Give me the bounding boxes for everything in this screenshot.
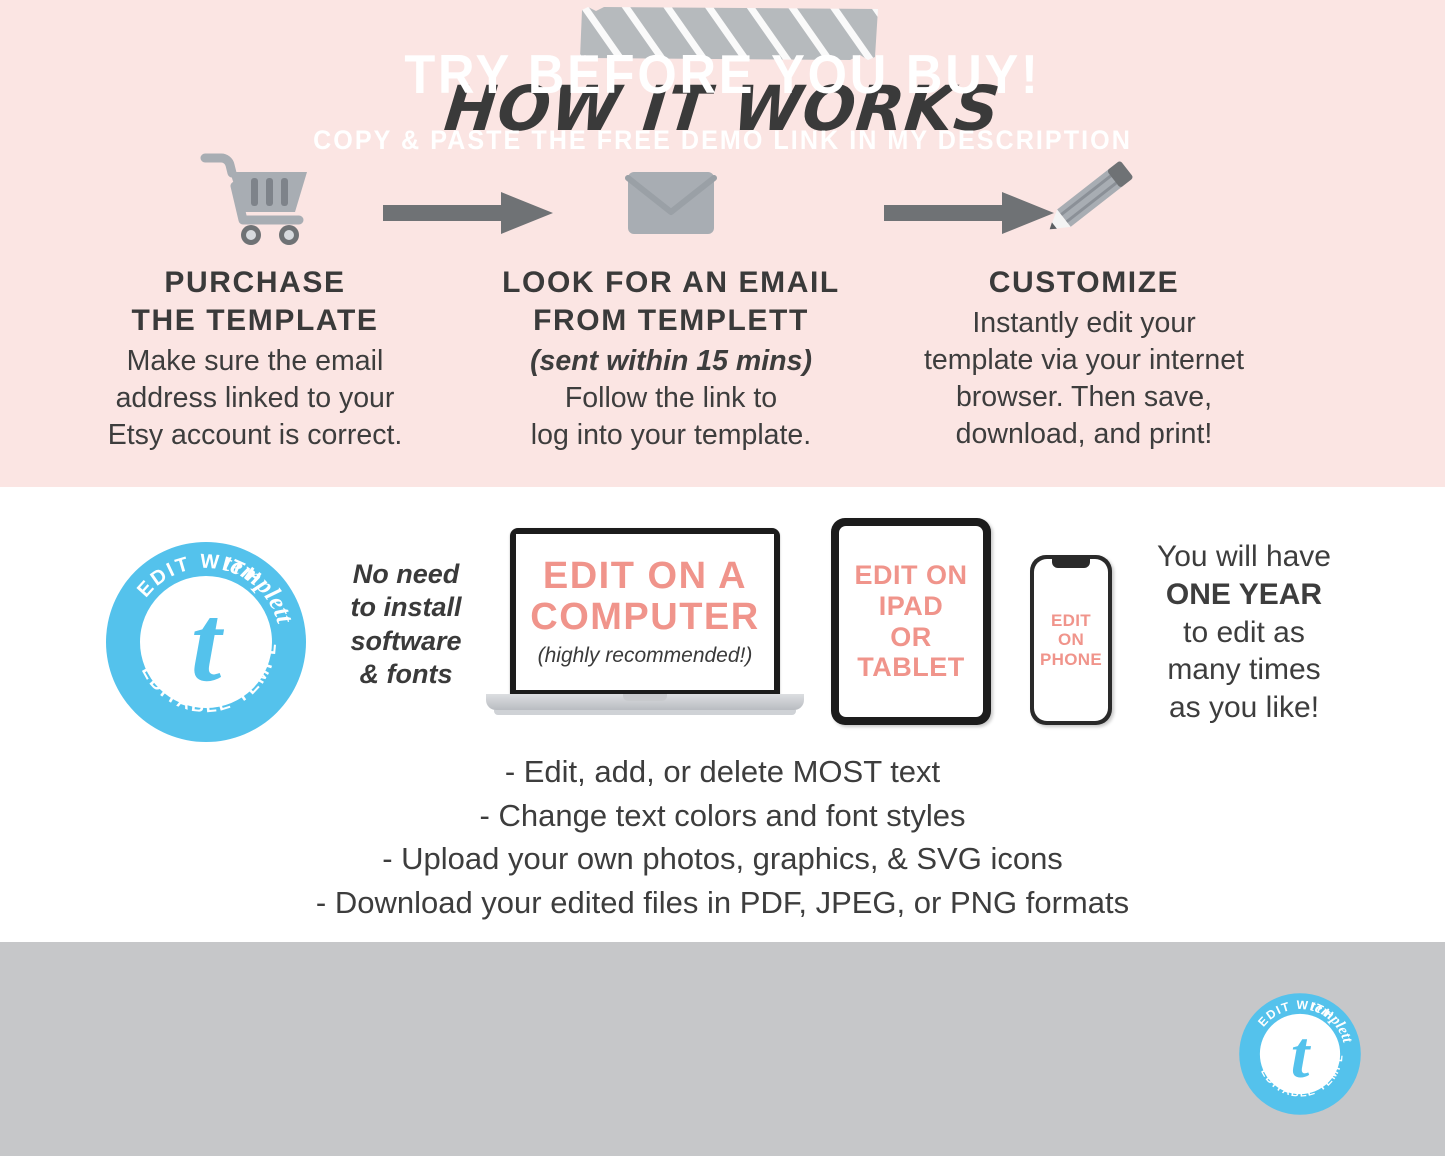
step-body-line2: template via your internet: [924, 344, 1244, 376]
step-heading: CUSTOMIZE: [989, 264, 1180, 302]
laptop-foot: [494, 710, 796, 715]
list-item: - Download your edited files in PDF, JPE…: [0, 881, 1445, 925]
laptop-line1: EDIT ON A: [543, 556, 747, 597]
tablet-line2: IPAD: [879, 591, 944, 621]
try-before-you-buy-banner: [0, 942, 1445, 1156]
no-need-line3: software: [350, 626, 461, 656]
step-body-italic: (sent within 15 mins): [530, 343, 812, 380]
phone-mockup: EDIT ON PHONE: [1030, 555, 1112, 725]
step-heading-line1: CUSTOMIZE: [989, 266, 1180, 299]
phone-text: EDIT ON PHONE: [1040, 611, 1102, 668]
phone-screen: EDIT ON PHONE: [1034, 559, 1108, 721]
no-need-line4: & fonts: [360, 659, 453, 689]
one-year-bold: ONE YEAR: [1166, 578, 1322, 611]
list-item: - Change text colors and font styles: [0, 794, 1445, 838]
step-body-line3: Etsy account is correct.: [108, 419, 403, 451]
step-heading-line1: LOOK FOR AN EMAIL: [502, 266, 840, 299]
banner-subtitle: COPY & PASTE THE FREE DEMO LINK IN MY DE…: [51, 125, 1395, 156]
laptop-line2: COMPUTER: [530, 597, 759, 638]
pencil-icon: [1024, 150, 1144, 246]
svg-text:t: t: [191, 582, 225, 704]
shopping-cart-icon: [199, 150, 311, 246]
list-item: - Edit, add, or delete MOST text: [0, 750, 1445, 794]
tablet-line3: OR: [890, 622, 932, 652]
step-body-line2: Follow the link to: [565, 382, 777, 414]
step-body: (sent within 15 mins) Follow the link to…: [530, 343, 812, 454]
step-heading-line2: FROM TEMPLETT: [533, 304, 809, 337]
templett-badge-small: EDIT WITH templett EDITABLE TEMPLATE t: [1238, 992, 1362, 1116]
tablet-mockup: EDIT ON IPAD OR TABLET: [831, 518, 991, 725]
laptop-screen: EDIT ON A COMPUTER (highly recommended!): [516, 534, 774, 690]
no-need-text: No need to install software & fonts: [336, 558, 476, 692]
svg-text:t: t: [1291, 1018, 1312, 1092]
features-list: - Edit, add, or delete MOST text - Chang…: [0, 750, 1445, 925]
one-year-line1: You will have: [1157, 540, 1331, 573]
one-year-text: You will have ONE YEAR to edit as many t…: [1124, 538, 1364, 727]
laptop-sub: (highly recommended!): [538, 644, 753, 668]
step-body-line4: download, and print!: [956, 418, 1213, 450]
laptop-lid: EDIT ON A COMPUTER (highly recommended!): [510, 528, 780, 696]
list-item: - Upload your own photos, graphics, & SV…: [0, 837, 1445, 881]
step-body-line3: browser. Then save,: [956, 381, 1212, 413]
step-heading: PURCHASE THE TEMPLATE: [132, 264, 379, 340]
envelope-icon: [623, 150, 719, 246]
laptop-mockup: EDIT ON A COMPUTER (highly recommended!): [486, 528, 804, 728]
phone-line1: EDIT: [1051, 611, 1091, 630]
phone-line3: PHONE: [1040, 650, 1102, 669]
one-year-line5: as you like!: [1169, 691, 1319, 724]
step-body-line1: Make sure the email: [127, 345, 384, 377]
tablet-line1: EDIT ON: [854, 560, 967, 590]
steps-row: PURCHASE THE TEMPLATE Make sure the emai…: [0, 150, 1445, 470]
no-need-line1: No need: [353, 559, 460, 589]
laptop-trackpad-notch: [623, 694, 667, 701]
step-customize: CUSTOMIZE Instantly edit your template v…: [874, 150, 1294, 453]
phone-notch: [1052, 559, 1090, 568]
step-body: Make sure the email address linked to yo…: [108, 343, 403, 454]
step-heading-line2: THE TEMPLATE: [132, 304, 379, 337]
step-body: Instantly edit your template via your in…: [924, 305, 1244, 453]
banner-title: TRY BEFORE YOU BUY!: [58, 42, 1387, 106]
no-need-line2: to install: [350, 592, 461, 622]
tablet-line4: TABLET: [857, 652, 964, 682]
phone-line2: ON: [1058, 630, 1084, 649]
step-purchase: PURCHASE THE TEMPLATE Make sure the emai…: [40, 150, 470, 454]
tablet-screen: EDIT ON IPAD OR TABLET: [839, 526, 983, 717]
tablet-text: EDIT ON IPAD OR TABLET: [854, 560, 967, 683]
one-year-line3: to edit as: [1183, 616, 1305, 649]
step-body-line2: address linked to your: [116, 382, 395, 414]
step-heading-line1: PURCHASE: [164, 266, 345, 299]
step-look-for-email: LOOK FOR AN EMAIL FROM TEMPLETT (sent wi…: [456, 150, 886, 454]
step-heading: LOOK FOR AN EMAIL FROM TEMPLETT: [502, 264, 840, 340]
step-body-line3: log into your template.: [531, 419, 811, 451]
infographic-canvas: HOW IT WORKS: [0, 0, 1445, 1156]
templett-badge-large: EDIT WITH templett EDITABLE TEMPLATE t: [104, 540, 308, 744]
step-body-line1: Instantly edit your: [972, 307, 1195, 339]
one-year-line4: many times: [1167, 653, 1320, 686]
